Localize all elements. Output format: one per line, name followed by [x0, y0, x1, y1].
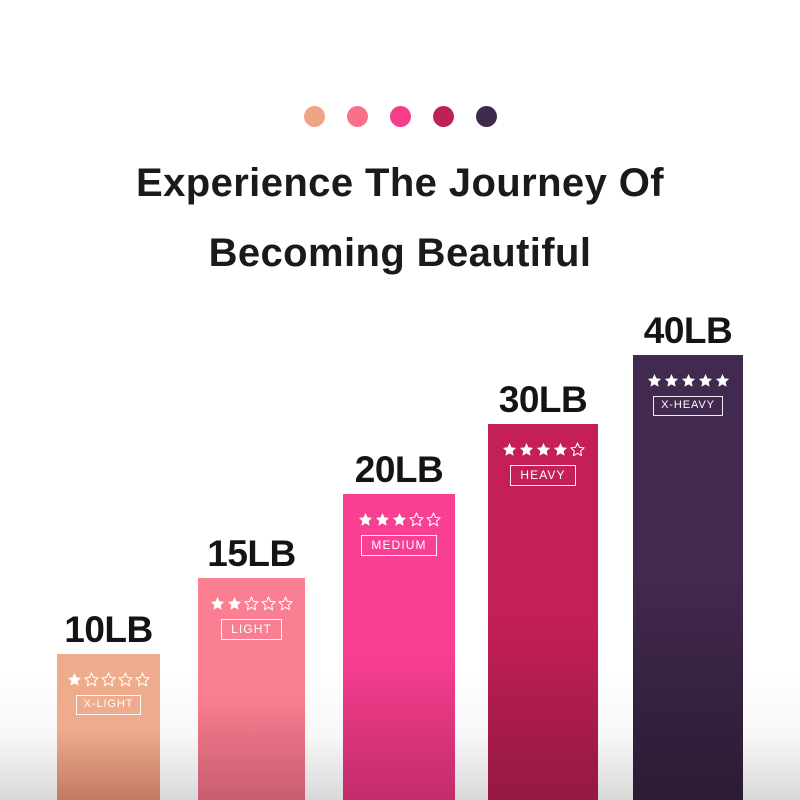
bar-badge: X-LIGHT — [57, 672, 160, 715]
bar-badge: LIGHT — [198, 596, 305, 640]
star-filled-icon — [502, 442, 517, 457]
level-label: HEAVY — [510, 465, 575, 486]
bar-fill: MEDIUM — [343, 494, 455, 800]
bar-fill: HEAVY — [488, 424, 598, 800]
bar-fill: LIGHT — [198, 578, 305, 800]
bar-weight-label: 20LB — [355, 451, 443, 488]
bar-badge: HEAVY — [488, 442, 598, 486]
star-outline-icon — [278, 596, 293, 611]
star-filled-icon — [664, 373, 679, 388]
bar-gradient-overlay — [633, 355, 743, 800]
star-outline-icon — [118, 672, 133, 687]
star-filled-icon — [536, 442, 551, 457]
bar-weight-label: 10LB — [64, 611, 152, 648]
star-filled-icon — [358, 512, 373, 527]
star-outline-icon — [84, 672, 99, 687]
star-filled-icon — [715, 373, 730, 388]
bar-30lb[interactable]: 30LBHEAVY — [488, 424, 598, 800]
star-outline-icon — [101, 672, 116, 687]
star-filled-icon — [698, 373, 713, 388]
bar-15lb[interactable]: 15LBLIGHT — [198, 578, 305, 800]
star-filled-icon — [519, 442, 534, 457]
bar-40lb[interactable]: 40LBX-HEAVY — [633, 355, 743, 800]
star-filled-icon — [553, 442, 568, 457]
star-filled-icon — [67, 672, 82, 687]
bar-weight-label: 30LB — [499, 381, 587, 418]
star-outline-icon — [570, 442, 585, 457]
rating-stars — [67, 672, 150, 687]
level-label: MEDIUM — [361, 535, 436, 556]
rating-stars — [647, 373, 730, 388]
bar-10lb[interactable]: 10LBX-LIGHT — [57, 654, 160, 800]
product-infographic: Experience The Journey Of Becoming Beaut… — [0, 0, 800, 800]
resistance-bar-chart: 10LBX-LIGHT15LBLIGHT20LBMEDIUM30LBHEAVY4… — [0, 0, 800, 800]
star-filled-icon — [392, 512, 407, 527]
star-filled-icon — [681, 373, 696, 388]
star-filled-icon — [647, 373, 662, 388]
level-label: X-LIGHT — [76, 695, 142, 715]
star-outline-icon — [244, 596, 259, 611]
bar-20lb[interactable]: 20LBMEDIUM — [343, 494, 455, 800]
bar-weight-label: 40LB — [644, 312, 732, 349]
bar-badge: MEDIUM — [343, 512, 455, 556]
star-outline-icon — [261, 596, 276, 611]
star-filled-icon — [375, 512, 390, 527]
level-label: X-HEAVY — [653, 396, 723, 416]
level-label: LIGHT — [221, 619, 282, 640]
rating-stars — [502, 442, 585, 457]
bar-weight-label: 15LB — [207, 535, 295, 572]
star-filled-icon — [227, 596, 242, 611]
rating-stars — [210, 596, 293, 611]
rating-stars — [358, 512, 441, 527]
star-filled-icon — [210, 596, 225, 611]
star-outline-icon — [135, 672, 150, 687]
star-outline-icon — [409, 512, 424, 527]
bar-fill: X-HEAVY — [633, 355, 743, 800]
bar-fill: X-LIGHT — [57, 654, 160, 800]
star-outline-icon — [426, 512, 441, 527]
bar-badge: X-HEAVY — [633, 373, 743, 416]
